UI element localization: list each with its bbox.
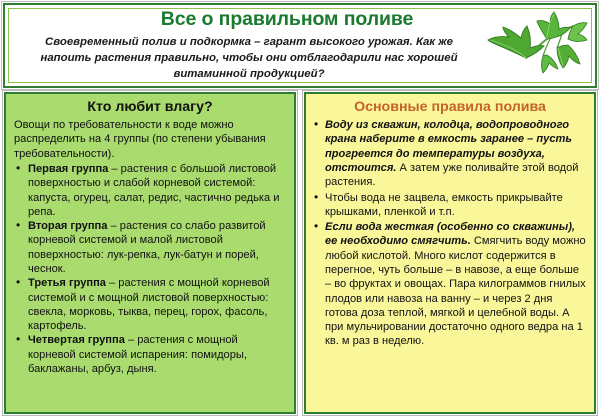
header-banner: Все о правильном поливе Своевременный по… xyxy=(3,3,597,88)
bullet-rest: Чтобы вода не зацвела, емкость прикрывай… xyxy=(325,192,563,218)
bullet-lead: Третья группа xyxy=(28,277,106,289)
list-item: Третья группа – растения с мощной корнев… xyxy=(14,276,286,333)
bullet-lead: Вторая группа xyxy=(28,220,107,232)
list-item: Четвертая группа – растения с мощной кор… xyxy=(14,333,286,376)
bullet-lead: Первая группа xyxy=(28,163,108,175)
list-item: Воду из скважин, колодца, водопроводного… xyxy=(314,118,586,189)
list-item: Первая группа – растения с большой листо… xyxy=(14,162,286,219)
panel-who-loves-moisture: Кто любит влагу? Овощи по требовательнос… xyxy=(4,92,296,414)
list-item: Чтобы вода не зацвела, емкость прикрывай… xyxy=(314,191,586,220)
panel-watering-rules: Основные правила полива Воду из скважин,… xyxy=(304,92,596,414)
left-panel-lead: Овощи по требовательности к воде можно р… xyxy=(14,118,286,161)
left-panel-bullet-list: Первая группа – растения с большой листо… xyxy=(14,162,286,376)
bullet-lead: Четвертая группа xyxy=(28,334,125,346)
right-panel-title: Основные правила полива xyxy=(314,99,586,116)
content-columns: Кто любит влагу? Овощи по требовательнос… xyxy=(0,92,600,418)
page-subtitle: Своевременный полив и подкормка – гарант… xyxy=(19,34,479,83)
bullet-rest: Смягчить воду можно любой кислотой. Мног… xyxy=(325,235,586,347)
right-panel-bullet-list: Воду из скважин, колодца, водопроводного… xyxy=(314,118,586,349)
left-panel-title: Кто любит влагу? xyxy=(14,99,286,116)
list-item: Если вода жесткая (особенно со скважины)… xyxy=(314,220,586,349)
infographic-root: Все о правильном поливе Своевременный по… xyxy=(0,0,600,418)
list-item: Вторая группа – растения со слабо развит… xyxy=(14,219,286,276)
page-title: Все о правильном поливе xyxy=(5,9,595,30)
